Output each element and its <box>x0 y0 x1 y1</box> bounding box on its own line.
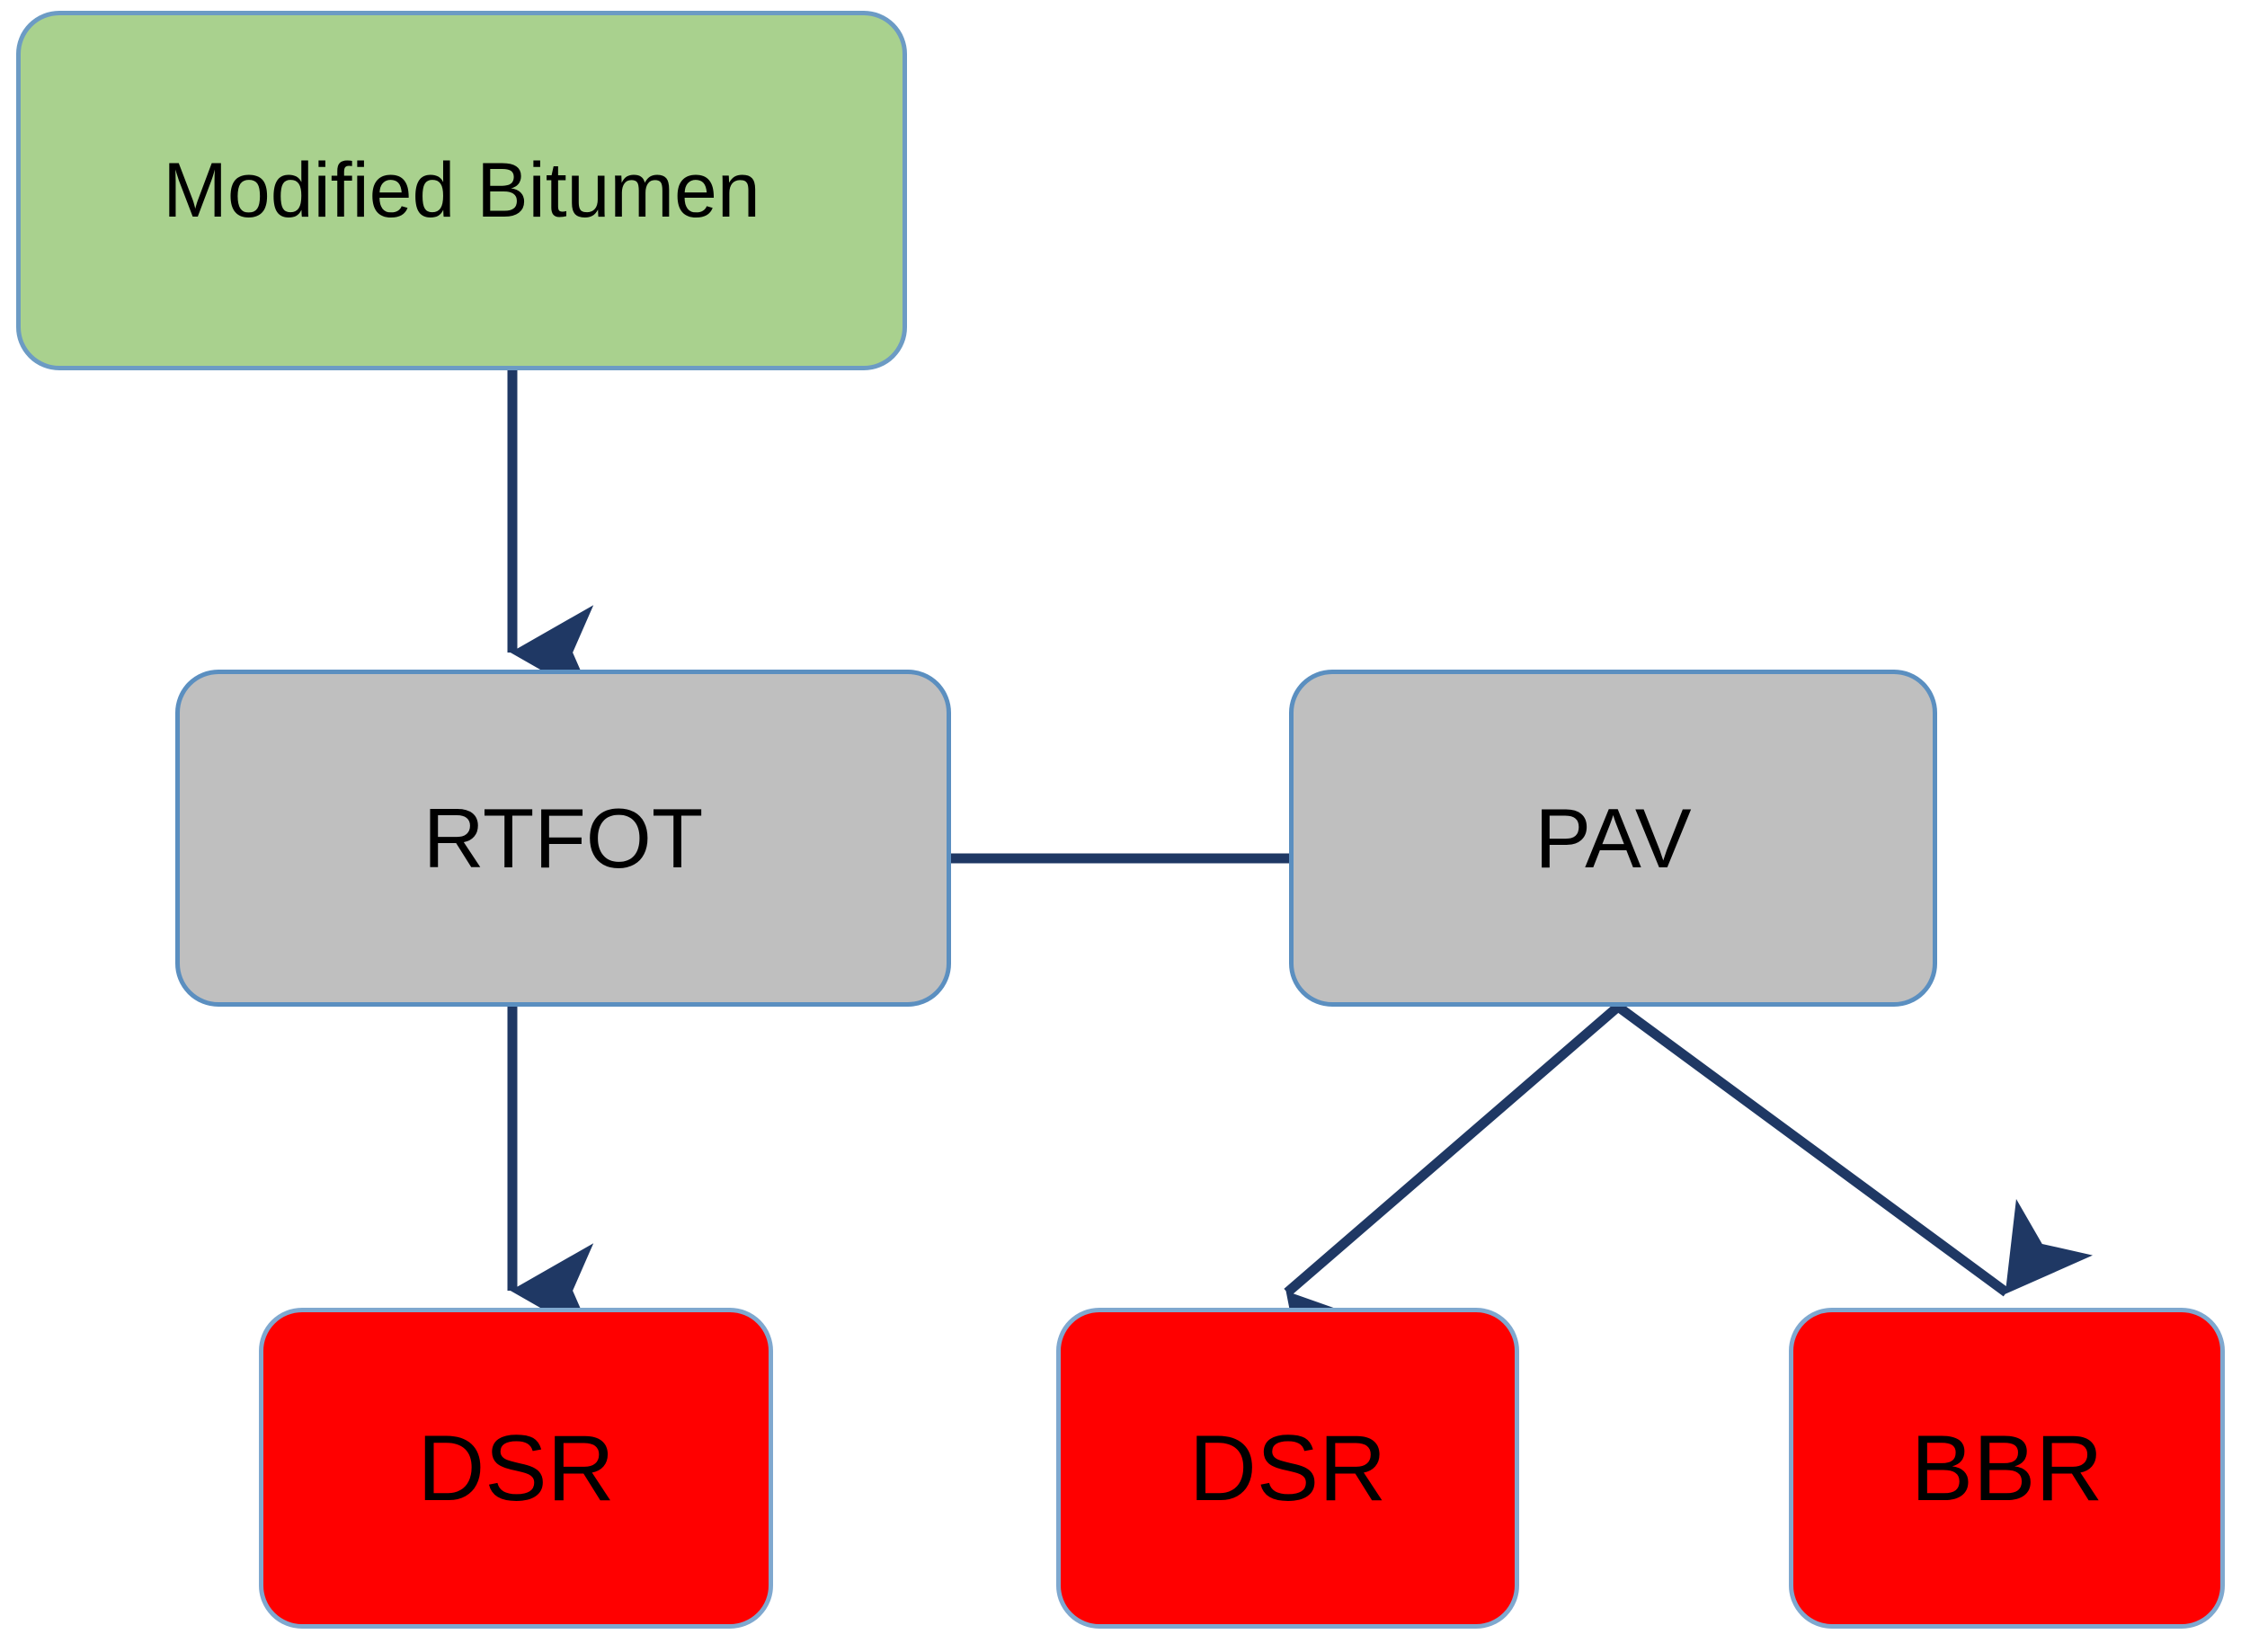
node-bbr-pav[interactable]: BBR <box>1789 1308 2225 1629</box>
node-modified-bitumen-label: Modified Bitumen <box>163 152 760 229</box>
node-pav-label: PAV <box>1534 796 1691 881</box>
node-rtfot-label: RTFOT <box>423 796 704 881</box>
node-dsr-rtfot-label: DSR <box>417 1422 615 1515</box>
node-modified-bitumen[interactable]: Modified Bitumen <box>16 11 907 370</box>
node-dsr-pav[interactable]: DSR <box>1056 1308 1519 1629</box>
node-dsr-rtfot[interactable]: DSR <box>259 1308 773 1629</box>
edge-pav-to-bbr <box>1618 1007 2006 1292</box>
node-pav[interactable]: PAV <box>1289 670 1937 1007</box>
node-bbr-pav-label: BBR <box>1911 1422 2103 1515</box>
flowchart-canvas: Modified Bitumen RTFOT PAV DSR DSR BBR <box>0 0 2241 1652</box>
node-dsr-pav-label: DSR <box>1189 1422 1387 1515</box>
node-rtfot[interactable]: RTFOT <box>175 670 951 1007</box>
edge-pav-to-dsr <box>1287 1007 1618 1292</box>
